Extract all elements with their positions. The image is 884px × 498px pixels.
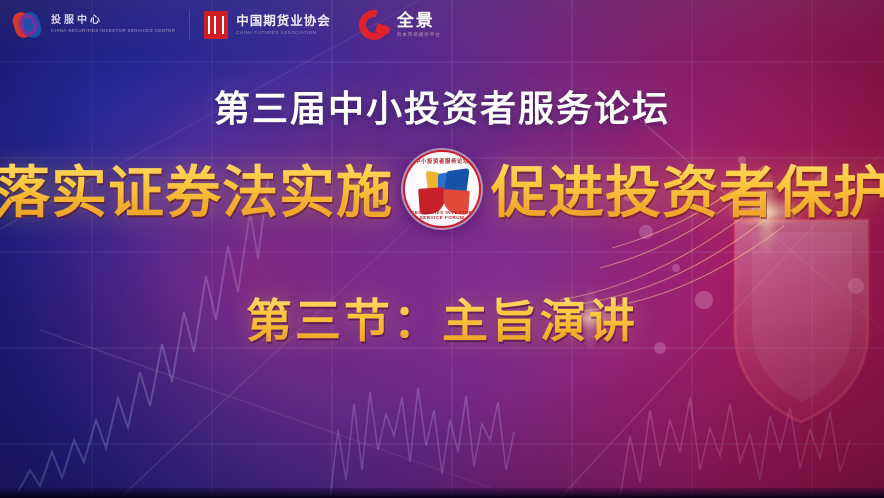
csisc-logo: 投服中心 CHINA SECURITIES INVESTOR SERVICES …	[0, 5, 189, 45]
slide-root: 投服中心 CHINA SECURITIES INVESTOR SERVICES …	[0, 0, 884, 498]
bottom-edge-band	[0, 488, 884, 498]
csisc-logo-en: CHINA SECURITIES INVESTOR SERVICES CENTE…	[51, 29, 175, 34]
headline-left: 落实证券法实施	[0, 148, 393, 229]
quanjing-logo-en: 资本市场服务平台	[397, 33, 441, 38]
csisc-logo-cn: 投服中心	[51, 16, 175, 26]
vignette-overlay	[0, 0, 884, 498]
cfa-logo-en: CHINA FUTURES ASSOCIATION	[236, 31, 331, 36]
section-heading: 第三节：主旨演讲	[0, 285, 884, 351]
quanjing-e-icon	[359, 10, 389, 40]
emblem-arc-top: 中小投资者服务论坛	[405, 157, 479, 165]
cfa-logo-cn: 中国期货业协会	[236, 15, 331, 28]
header-logo-bar: 投服中心 CHINA SECURITIES INVESTOR SERVICES …	[0, 0, 884, 50]
headline-row: 落实证券法实施 中小投资者服务论坛 SECURITIES INVESTOR SE…	[0, 148, 884, 229]
emblem-arc-bottom: SECURITIES INVESTOR SERVICE FORUM	[405, 210, 479, 220]
csisc-mark-icon	[14, 10, 44, 40]
cfa-mark-icon	[204, 11, 228, 39]
quanjing-logo-cn: 全景	[397, 12, 441, 29]
quanjing-logo: 全景 资本市场服务平台	[345, 5, 455, 45]
headline-right: 促进投资者保护	[491, 148, 884, 229]
forum-emblem-icon: 中小投资者服务论坛 SECURITIES INVESTOR SERVICE FO…	[403, 150, 481, 228]
forum-subtitle: 第三届中小投资者服务论坛	[0, 80, 884, 132]
cfa-logo: 中国期货业协会 CHINA FUTURES ASSOCIATION	[190, 5, 345, 45]
